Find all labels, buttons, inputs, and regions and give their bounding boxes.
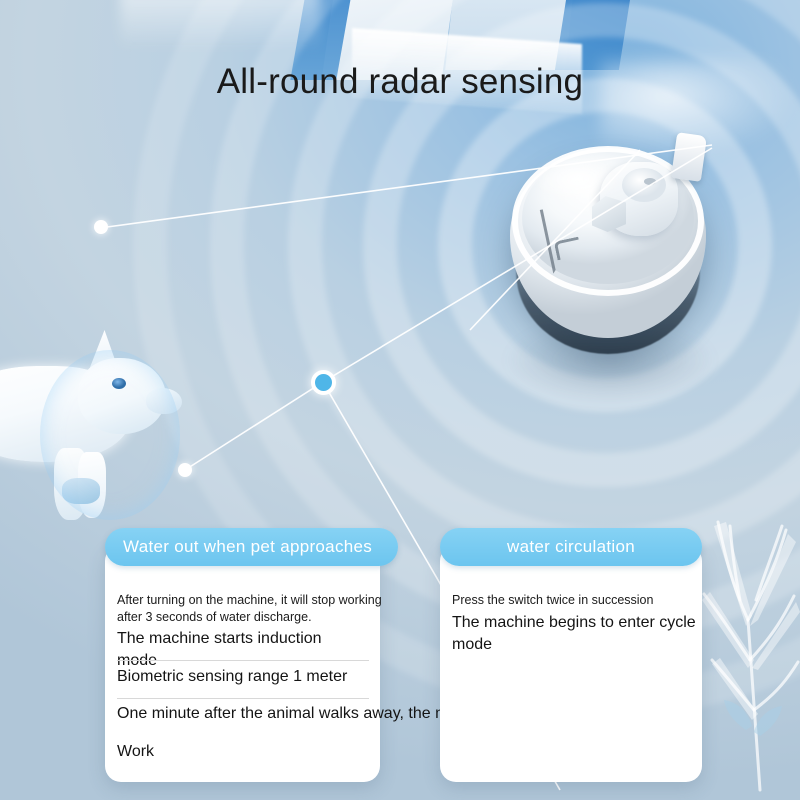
info-card-right <box>440 545 702 782</box>
info-card-right-header: water circulation <box>440 528 702 566</box>
info-card-left-header-label: Water out when pet approaches <box>123 537 372 557</box>
radar-marker-ring-center <box>311 370 336 395</box>
info-card-right-body: Press the switch twice in succession The… <box>452 592 702 656</box>
info-card-right-header-label: water circulation <box>507 537 635 557</box>
right-line-2: The machine begins to enter cycle <box>452 612 702 634</box>
info-card-left-header: Water out when pet approaches <box>105 528 398 566</box>
left-divider-2 <box>117 698 369 699</box>
left-divider-1 <box>117 660 369 661</box>
radar-marker-dot-upper <box>94 220 108 234</box>
radar-marker-dot-lower <box>178 463 192 477</box>
right-line-3: mode <box>452 634 702 656</box>
right-line-1: Press the switch twice in succession <box>452 592 702 609</box>
product-infographic: All-round radar sensing Water out when p… <box>0 0 800 800</box>
